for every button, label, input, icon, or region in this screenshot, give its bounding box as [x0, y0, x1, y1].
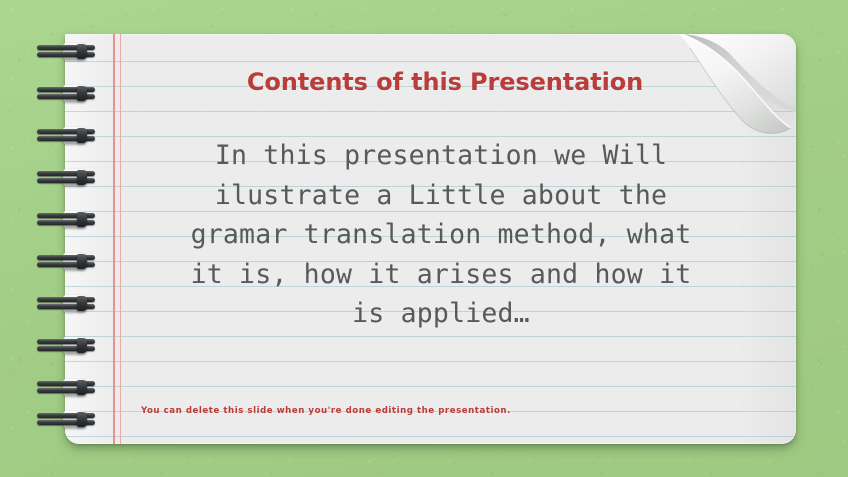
page-title: Contents of this Presentation	[125, 68, 765, 96]
body-line: is applied…	[117, 294, 765, 334]
body-line: In this presentation we Will	[117, 136, 765, 176]
slide-content: Contents of this Presentation In this pr…	[65, 34, 796, 444]
body-line: ilustrate a Little about the	[117, 176, 765, 216]
body-line: it is, how it arises and how it	[117, 255, 765, 295]
body-paragraph: In this presentation we Will ilustrate a…	[117, 136, 765, 334]
slide-canvas: Contents of this Presentation In this pr…	[0, 0, 848, 477]
notebook-page: Contents of this Presentation In this pr…	[65, 34, 796, 444]
body-line: gramar translation method, what	[117, 215, 765, 255]
footer-note: You can delete this slide when you're do…	[141, 406, 511, 416]
